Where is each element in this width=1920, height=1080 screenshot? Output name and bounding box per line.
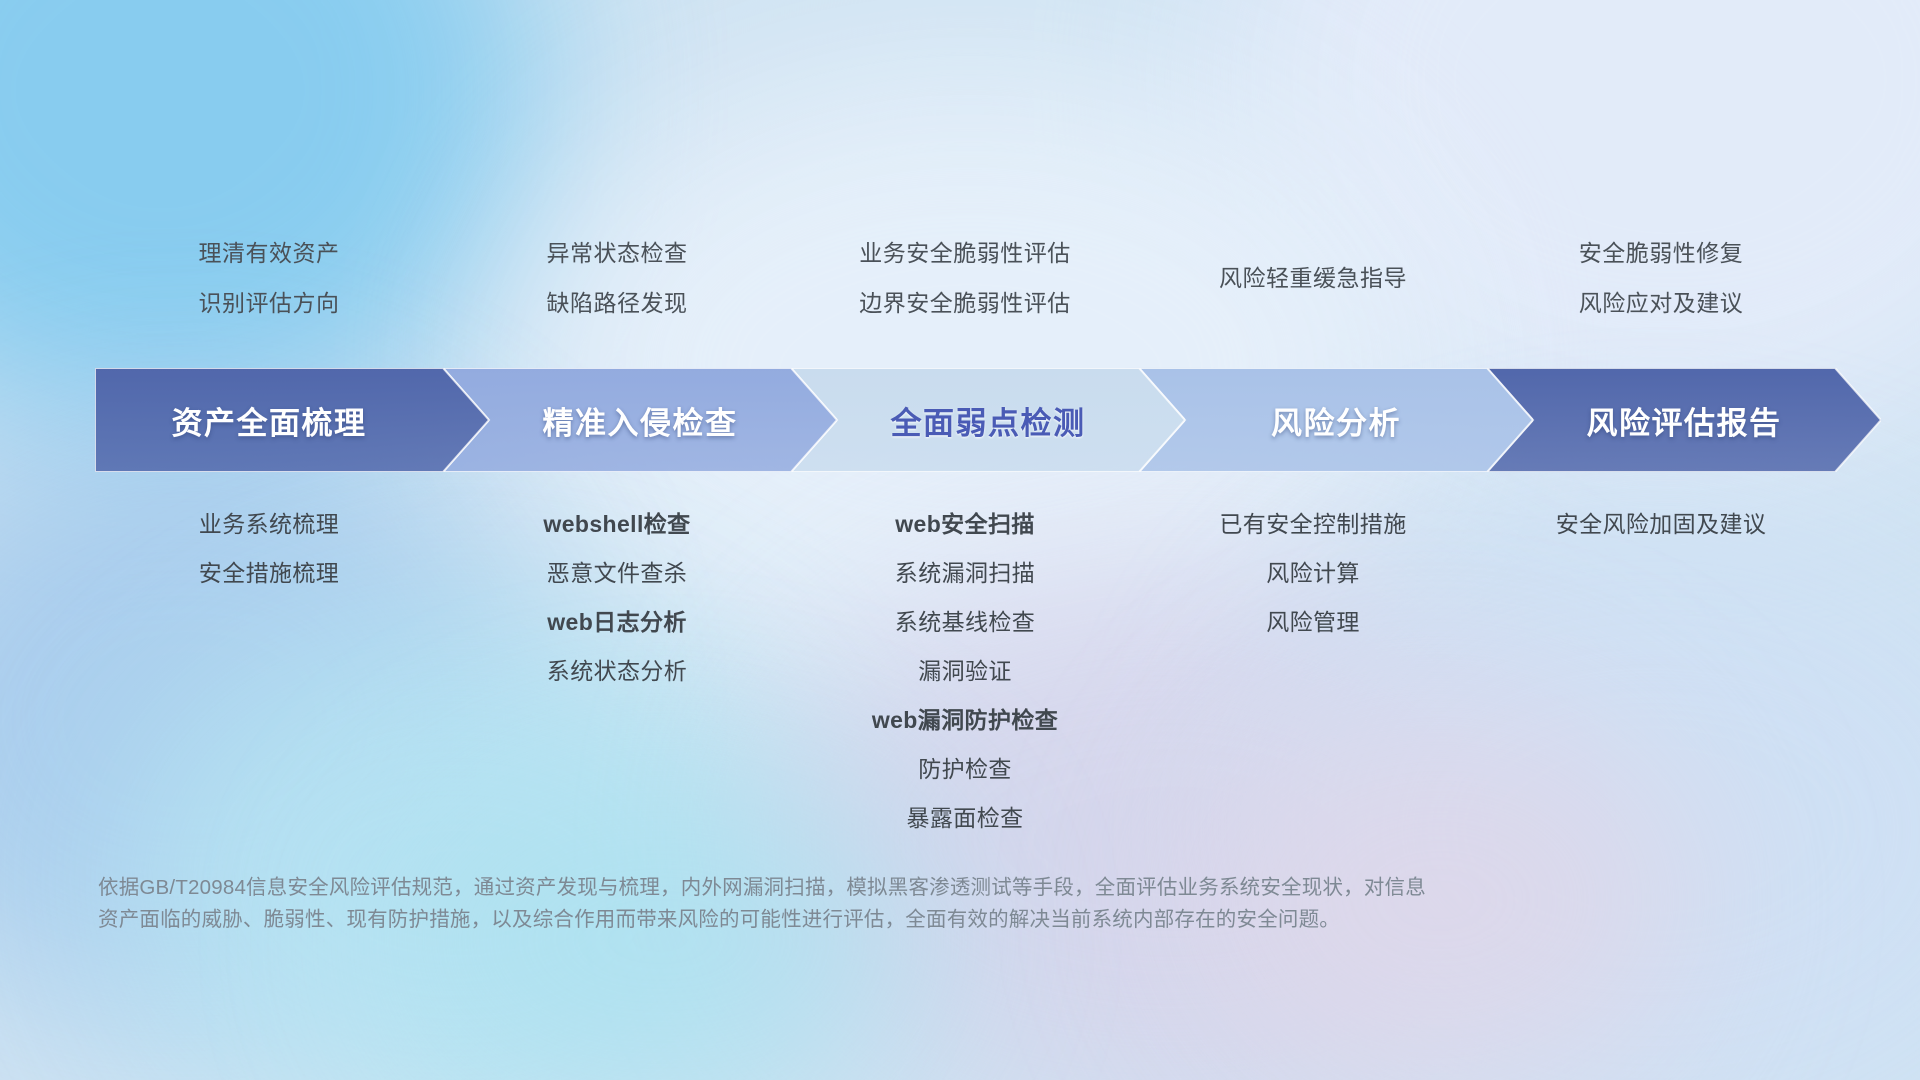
footer-line-1: 依据GB/T20984信息安全风险评估规范，通过资产发现与梳理，内外网漏洞扫描，…: [98, 872, 1608, 904]
process-stage-asset-inventory[interactable]: 资产全面梳理: [95, 368, 489, 472]
top-notes-risk-analysis: 风险轻重缓急指导: [1139, 228, 1487, 328]
stage-title-risk-analysis: 风险分析: [1139, 398, 1533, 443]
stage-title-weakness-detection: 全面弱点检测: [791, 398, 1185, 443]
top-note: 安全脆弱性修复: [1487, 228, 1835, 278]
bottom-note: 系统漏洞扫描: [791, 549, 1139, 598]
top-note: 业务安全脆弱性评估: [791, 228, 1139, 278]
stage-title-asset-inventory: 资产全面梳理: [95, 398, 489, 443]
bottom-note: 已有安全控制措施: [1139, 500, 1487, 549]
bottom-note: 系统状态分析: [443, 647, 791, 696]
top-note: 缺陷路径发现: [443, 278, 791, 328]
top-note: 边界安全脆弱性评估: [791, 278, 1139, 328]
stage-title-assessment-report: 风险评估报告: [1487, 398, 1881, 443]
bottom-note: 安全措施梳理: [95, 549, 443, 598]
bottom-note: 业务系统梳理: [95, 500, 443, 549]
top-note: 理清有效资产: [95, 228, 443, 278]
bottom-note: 风险管理: [1139, 598, 1487, 647]
bottom-note: 恶意文件查杀: [443, 549, 791, 598]
top-note: 识别评估方向: [95, 278, 443, 328]
bottom-note: 防护检查: [791, 745, 1139, 794]
top-notes-weakness-detection: 业务安全脆弱性评估边界安全脆弱性评估: [791, 228, 1139, 328]
process-stage-risk-analysis[interactable]: 风险分析: [1139, 368, 1533, 472]
top-note: 异常状态检查: [443, 228, 791, 278]
footer-line-2: 资产面临的威胁、脆弱性、现有防护措施，以及综合作用而带来风险的可能性进行评估，全…: [98, 904, 1608, 936]
stage-title-intrusion-check: 精准入侵检查: [443, 398, 837, 443]
bottom-note: web漏洞防护检查: [791, 696, 1139, 745]
bottom-notes-intrusion-check: webshell检查恶意文件查杀web日志分析系统状态分析: [443, 500, 791, 696]
bottom-notes-risk-analysis: 已有安全控制措施风险计算风险管理: [1139, 500, 1487, 647]
bottom-notes-assessment-report: 安全风险加固及建议: [1487, 500, 1835, 549]
process-stage-weakness-detection[interactable]: 全面弱点检测: [791, 368, 1185, 472]
bottom-note: webshell检查: [443, 500, 791, 549]
bottom-note: 系统基线检查: [791, 598, 1139, 647]
bottom-notes-weakness-detection: web安全扫描系统漏洞扫描系统基线检查漏洞验证web漏洞防护检查防护检查暴露面检…: [791, 500, 1139, 843]
process-arrow-band: 资产全面梳理精准入侵检查全面弱点检测风险分析风险评估报告: [95, 368, 1835, 472]
process-stage-assessment-report[interactable]: 风险评估报告: [1487, 368, 1881, 472]
top-note: 风险轻重缓急指导: [1139, 253, 1487, 303]
top-notes-assessment-report: 安全脆弱性修复风险应对及建议: [1487, 228, 1835, 328]
bottom-note: 安全风险加固及建议: [1487, 500, 1835, 549]
top-notes-intrusion-check: 异常状态检查缺陷路径发现: [443, 228, 791, 328]
bottom-note: web日志分析: [443, 598, 791, 647]
top-notes-asset-inventory: 理清有效资产识别评估方向: [95, 228, 443, 328]
bottom-note: web安全扫描: [791, 500, 1139, 549]
bottom-note: 暴露面检查: [791, 794, 1139, 843]
top-captions-row: 理清有效资产识别评估方向异常状态检查缺陷路径发现业务安全脆弱性评估边界安全脆弱性…: [95, 228, 1860, 328]
process-stage-intrusion-check[interactable]: 精准入侵检查: [443, 368, 837, 472]
top-note: 风险应对及建议: [1487, 278, 1835, 328]
bottom-note: 漏洞验证: [791, 647, 1139, 696]
bottom-notes-asset-inventory: 业务系统梳理安全措施梳理: [95, 500, 443, 598]
footer-description: 依据GB/T20984信息安全风险评估规范，通过资产发现与梳理，内外网漏洞扫描，…: [98, 872, 1608, 936]
bottom-details-row: 业务系统梳理安全措施梳理webshell检查恶意文件查杀web日志分析系统状态分…: [95, 500, 1860, 843]
bottom-note: 风险计算: [1139, 549, 1487, 598]
